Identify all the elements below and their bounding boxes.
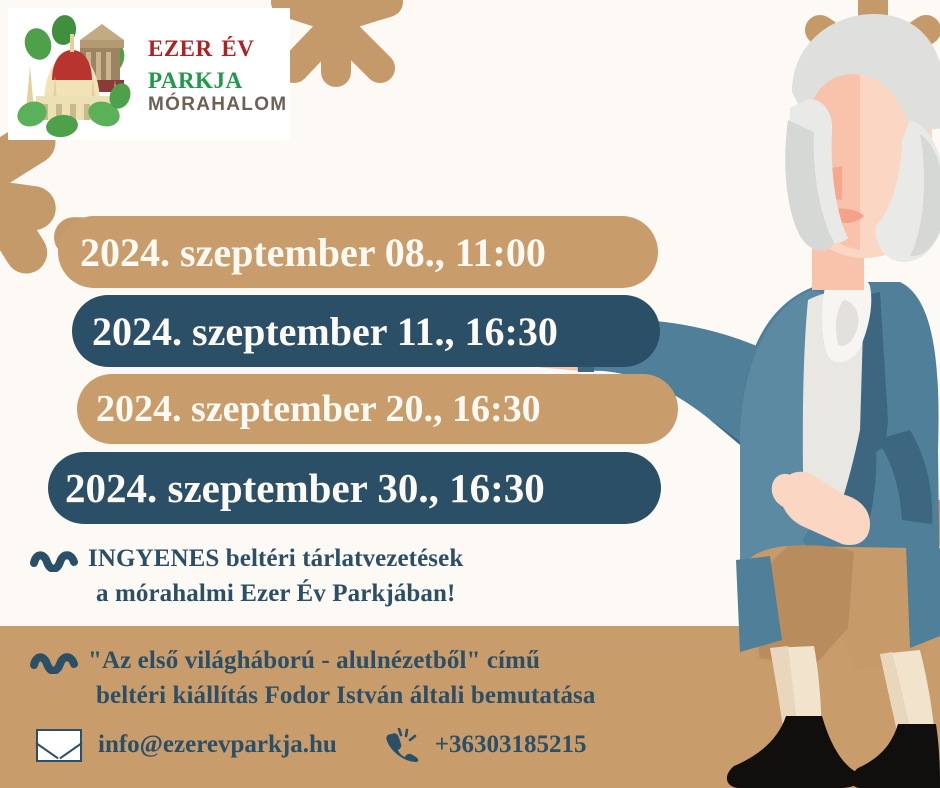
date-banner-1-label: 2024. szeptember 08., 11:00 [80, 229, 546, 276]
phone-handset-icon [383, 728, 419, 762]
contact-email[interactable]: info@ezerevparkja.hu [98, 731, 337, 759]
date-banner-3-label: 2024. szeptember 20., 16:30 [96, 387, 541, 431]
date-banner-2-label: 2024. szeptember 11., 16:30 [92, 308, 558, 355]
parliament-building-emblem-icon [8, 10, 144, 138]
contact-row: info@ezerevparkja.hu +36303185215 [36, 728, 587, 762]
contact-phone[interactable]: +36303185215 [435, 731, 587, 759]
date-banner-2[interactable]: 2024. szeptember 11., 16:30 [72, 295, 660, 367]
logo-line-2: Parkja [148, 62, 287, 94]
logo-line-3: MÓRAHALOM [148, 96, 287, 114]
date-banner-4[interactable]: 2024. szeptember 30., 16:30 [48, 452, 661, 524]
exhibition-line-2: beltéri kiállítás Fodor István általi be… [88, 679, 595, 714]
logo[interactable]: Ezer Év Parkja MÓRAHALOM [8, 8, 290, 140]
poster-canvas: 2024. szeptember 08., 11:00 2024. szepte… [0, 0, 940, 788]
info-block-free-tours: INGYENES beltéri tárlatvezetések a mórah… [30, 542, 463, 611]
info-line-2: a mórahalmi Ezer Év Parkjában! [88, 577, 463, 612]
date-banner-1[interactable]: 2024. szeptember 08., 11:00 [58, 216, 658, 288]
date-banner-3[interactable]: 2024. szeptember 20., 16:30 [77, 374, 678, 444]
info-line-1: INGYENES beltéri tárlatvezetések [88, 542, 463, 577]
squiggle-icon-1 [30, 550, 78, 572]
logo-line-1: Ezer Év [148, 30, 287, 62]
date-banner-4-label: 2024. szeptember 30., 16:30 [65, 464, 545, 512]
info-block-exhibition: "Az első világháború - alulnézetből" cím… [30, 644, 595, 713]
squiggle-icon-2 [30, 652, 78, 674]
envelope-icon [36, 729, 82, 762]
exhibition-line-1: "Az első világháború - alulnézetből" cím… [88, 644, 595, 679]
